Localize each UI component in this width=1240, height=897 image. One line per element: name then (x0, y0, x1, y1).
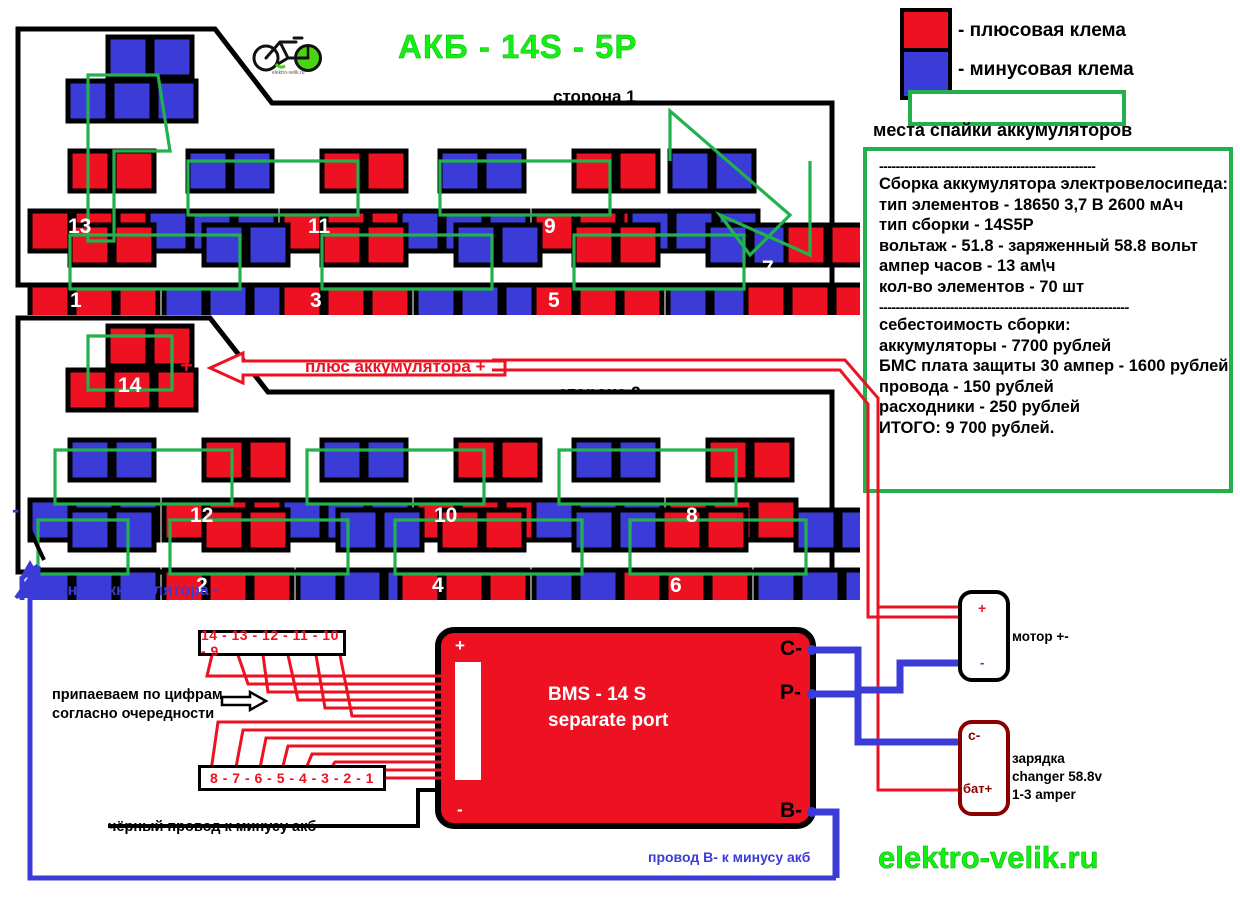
black-wire-note: чёрный провод к минусу акб (108, 818, 316, 837)
harness-bottom-box: 8 - 7 - 6 - 5 - 4 - 3 - 2 - 1 (198, 765, 386, 791)
motor-plus-label: + (978, 600, 986, 616)
bms-title-line2: separate port (548, 708, 668, 734)
solder-order-note-line1: припаеваем по цифрам (52, 686, 223, 705)
bms-terminal-p-minus[interactable]: P- (780, 681, 801, 705)
bms-minus-label: - (457, 800, 463, 820)
motor-label: мотор +- (1012, 628, 1069, 646)
bms-terminal-c-minus[interactable]: C- (780, 637, 802, 661)
bms-terminal-b-minus[interactable]: B- (780, 799, 802, 823)
charger-c-minus-label: с- (968, 727, 980, 743)
charger-bat-plus-label: бат+ (963, 781, 992, 796)
bms-plus-label: + (455, 636, 465, 656)
motor-minus-label: - (980, 655, 984, 670)
charger-note-1: changer 58.8v (1012, 768, 1102, 786)
brand-watermark: elektro-velik.ru (878, 840, 1099, 876)
harness-top-box: 14 - 13 - 12 - 11 - 10 - 9 (198, 630, 346, 656)
solder-order-note-line2: согласно очередности (52, 705, 214, 724)
charger-note-2: 1-3 amper (1012, 786, 1076, 804)
b-minus-wire-note: провод B- к минусу акб (648, 849, 810, 865)
bms-title-line1: BMS - 14 S (548, 682, 646, 708)
charger-note-0: зарядка (1012, 750, 1065, 768)
